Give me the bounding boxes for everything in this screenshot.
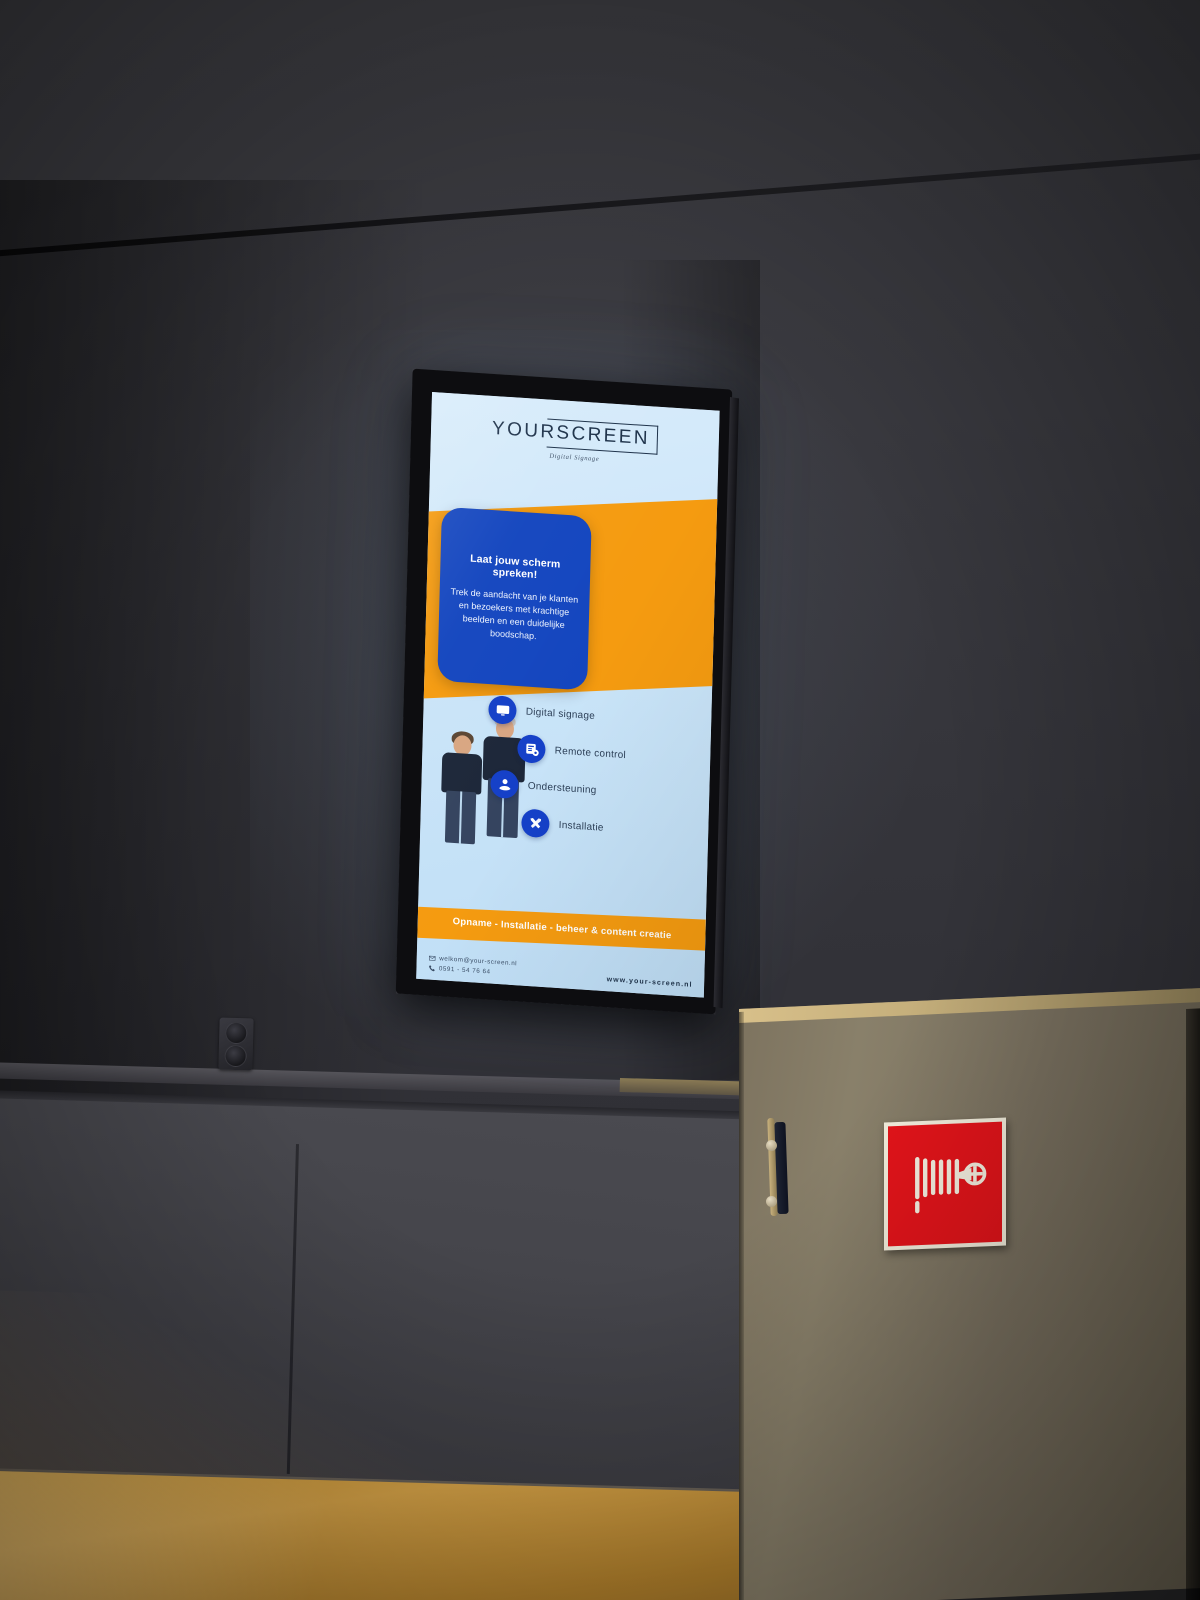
- partition-door[interactable]: [739, 988, 1200, 1600]
- feature-label: Installatie: [559, 820, 604, 834]
- services-strip-text: Opname - Installatie - beheer & content …: [452, 916, 671, 941]
- remote-settings-icon: [517, 734, 546, 764]
- fire-hose-reel-sign-face: [888, 1122, 1002, 1247]
- feature-label: Ondersteuning: [528, 781, 597, 797]
- feature-item-remote-control[interactable]: Remote control: [517, 734, 704, 774]
- monitor-icon: [488, 695, 517, 725]
- feature-label: Remote control: [555, 745, 627, 761]
- fire-hose-reel-sign: [884, 1117, 1006, 1250]
- partition-right-shadow: [1186, 1008, 1200, 1600]
- tools-icon: [521, 809, 550, 839]
- phone-icon: [428, 964, 435, 971]
- support-hand-icon: [490, 770, 519, 800]
- person-left: [437, 730, 484, 898]
- room-scene: YOUR SCREEN Digital Signage Laat jouw sc…: [0, 0, 1200, 1600]
- door-handle-screw-top: [766, 1140, 777, 1151]
- headline-text: Laat jouw scherm spreken!: [450, 552, 580, 585]
- headline-card: Laat jouw scherm spreken! Trek de aandac…: [437, 507, 591, 690]
- digital-signage-display[interactable]: YOUR SCREEN Digital Signage Laat jouw sc…: [396, 369, 732, 1015]
- logo-word-screen: SCREEN: [547, 418, 658, 454]
- envelope-icon: [428, 954, 435, 961]
- socket-outlet-top: [225, 1022, 248, 1045]
- power-socket[interactable]: [218, 1018, 253, 1071]
- feature-item-ondersteuning[interactable]: Ondersteuning: [490, 770, 703, 812]
- floor-light-reflection: [0, 1470, 460, 1600]
- headline-body-text: Trek de aandacht van je klanten en bezoe…: [448, 585, 579, 646]
- display-panel[interactable]: YOUR SCREEN Digital Signage Laat jouw sc…: [416, 392, 719, 998]
- feature-item-installatie[interactable]: Installatie: [521, 809, 702, 849]
- door-left-edge: [739, 1012, 744, 1600]
- door-handle-screw-bottom: [766, 1196, 777, 1207]
- socket-outlet-bottom: [224, 1045, 247, 1068]
- feature-list: Digital signage Remote control Ondersteu…: [483, 695, 706, 857]
- fire-hose-icon: [901, 1138, 989, 1230]
- feature-label: Digital signage: [526, 706, 596, 722]
